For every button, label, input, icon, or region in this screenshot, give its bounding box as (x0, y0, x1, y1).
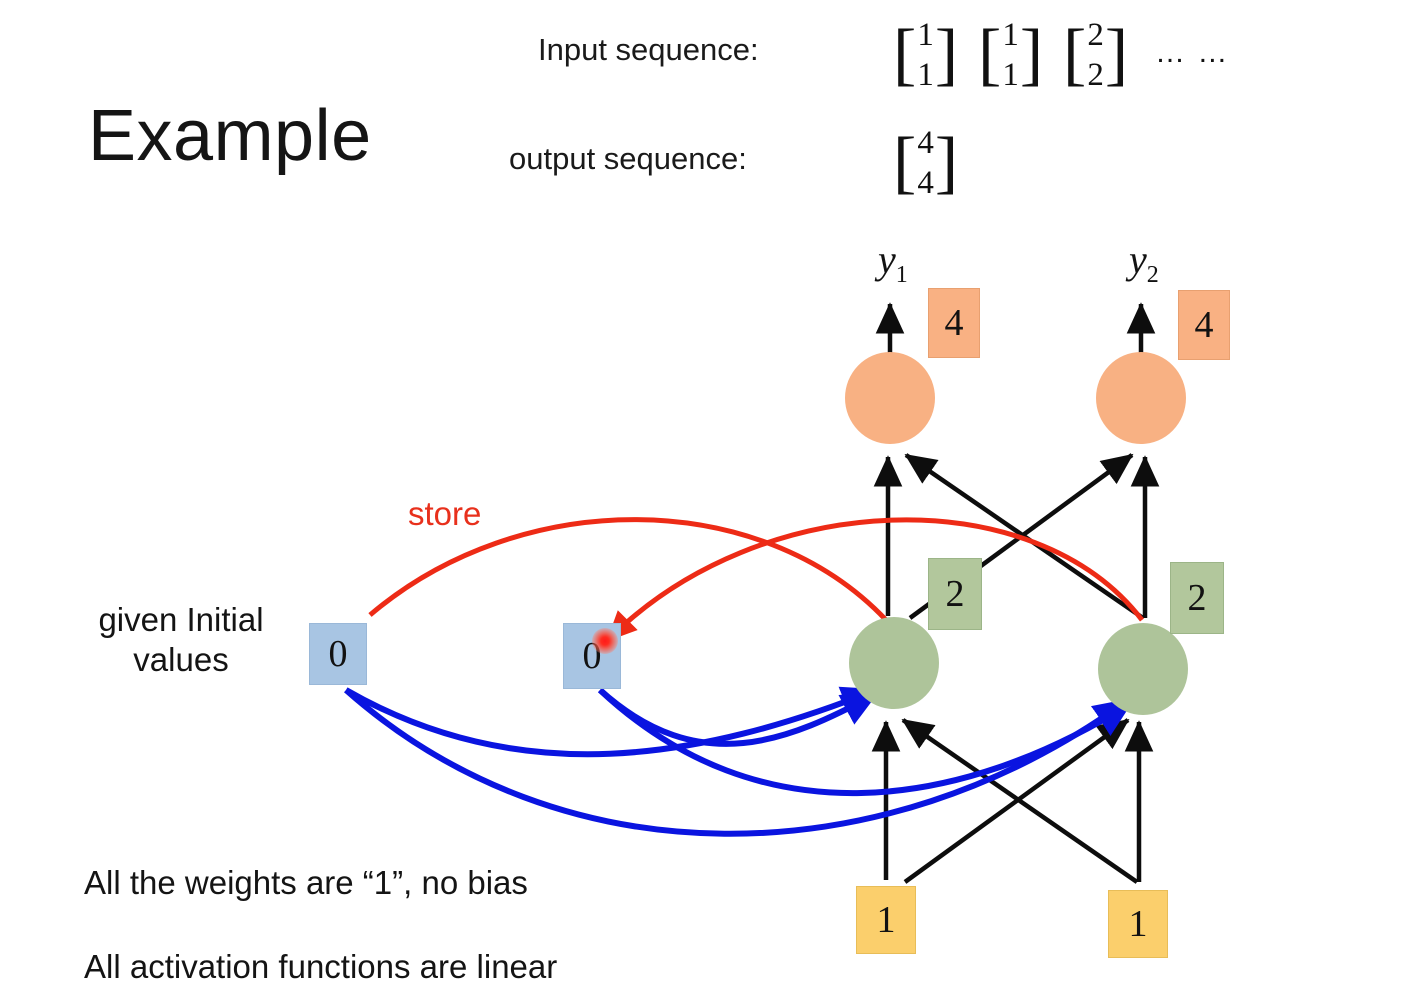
output-value-box-1[interactable]: 4 (928, 288, 980, 358)
network-connections-layer (0, 0, 1401, 994)
memory-box-1[interactable]: 0 (309, 623, 367, 685)
output-label-y2-sub: 2 (1147, 262, 1159, 288)
store-curve-left (370, 520, 886, 620)
hidden-node-2[interactable] (1098, 623, 1188, 715)
hidden-value-box-2[interactable]: 2 (1170, 562, 1224, 634)
output-value-box-2[interactable]: 4 (1178, 290, 1230, 360)
output-label-y1-sub: 1 (896, 262, 908, 288)
laser-pointer-cursor (592, 628, 618, 654)
recurrent-curves (346, 690, 1130, 834)
input-box-1[interactable]: 1 (856, 886, 916, 954)
hidden-value-box-1[interactable]: 2 (928, 558, 982, 630)
output-node-2[interactable] (1096, 352, 1186, 444)
output-label-y2-text: y (1129, 237, 1147, 282)
store-label: store (408, 495, 481, 533)
hidden-node-1[interactable] (849, 617, 939, 709)
slide-canvas: Example Input sequence: [ 1 1 ] [ 1 1 ] … (0, 0, 1401, 994)
output-node-1[interactable] (845, 352, 935, 444)
output-label-y1: y1 (878, 236, 908, 289)
output-label-y2: y2 (1129, 236, 1159, 289)
store-curves (370, 520, 1142, 640)
output-label-y1-text: y (878, 237, 896, 282)
input-box-2[interactable]: 1 (1108, 890, 1168, 958)
